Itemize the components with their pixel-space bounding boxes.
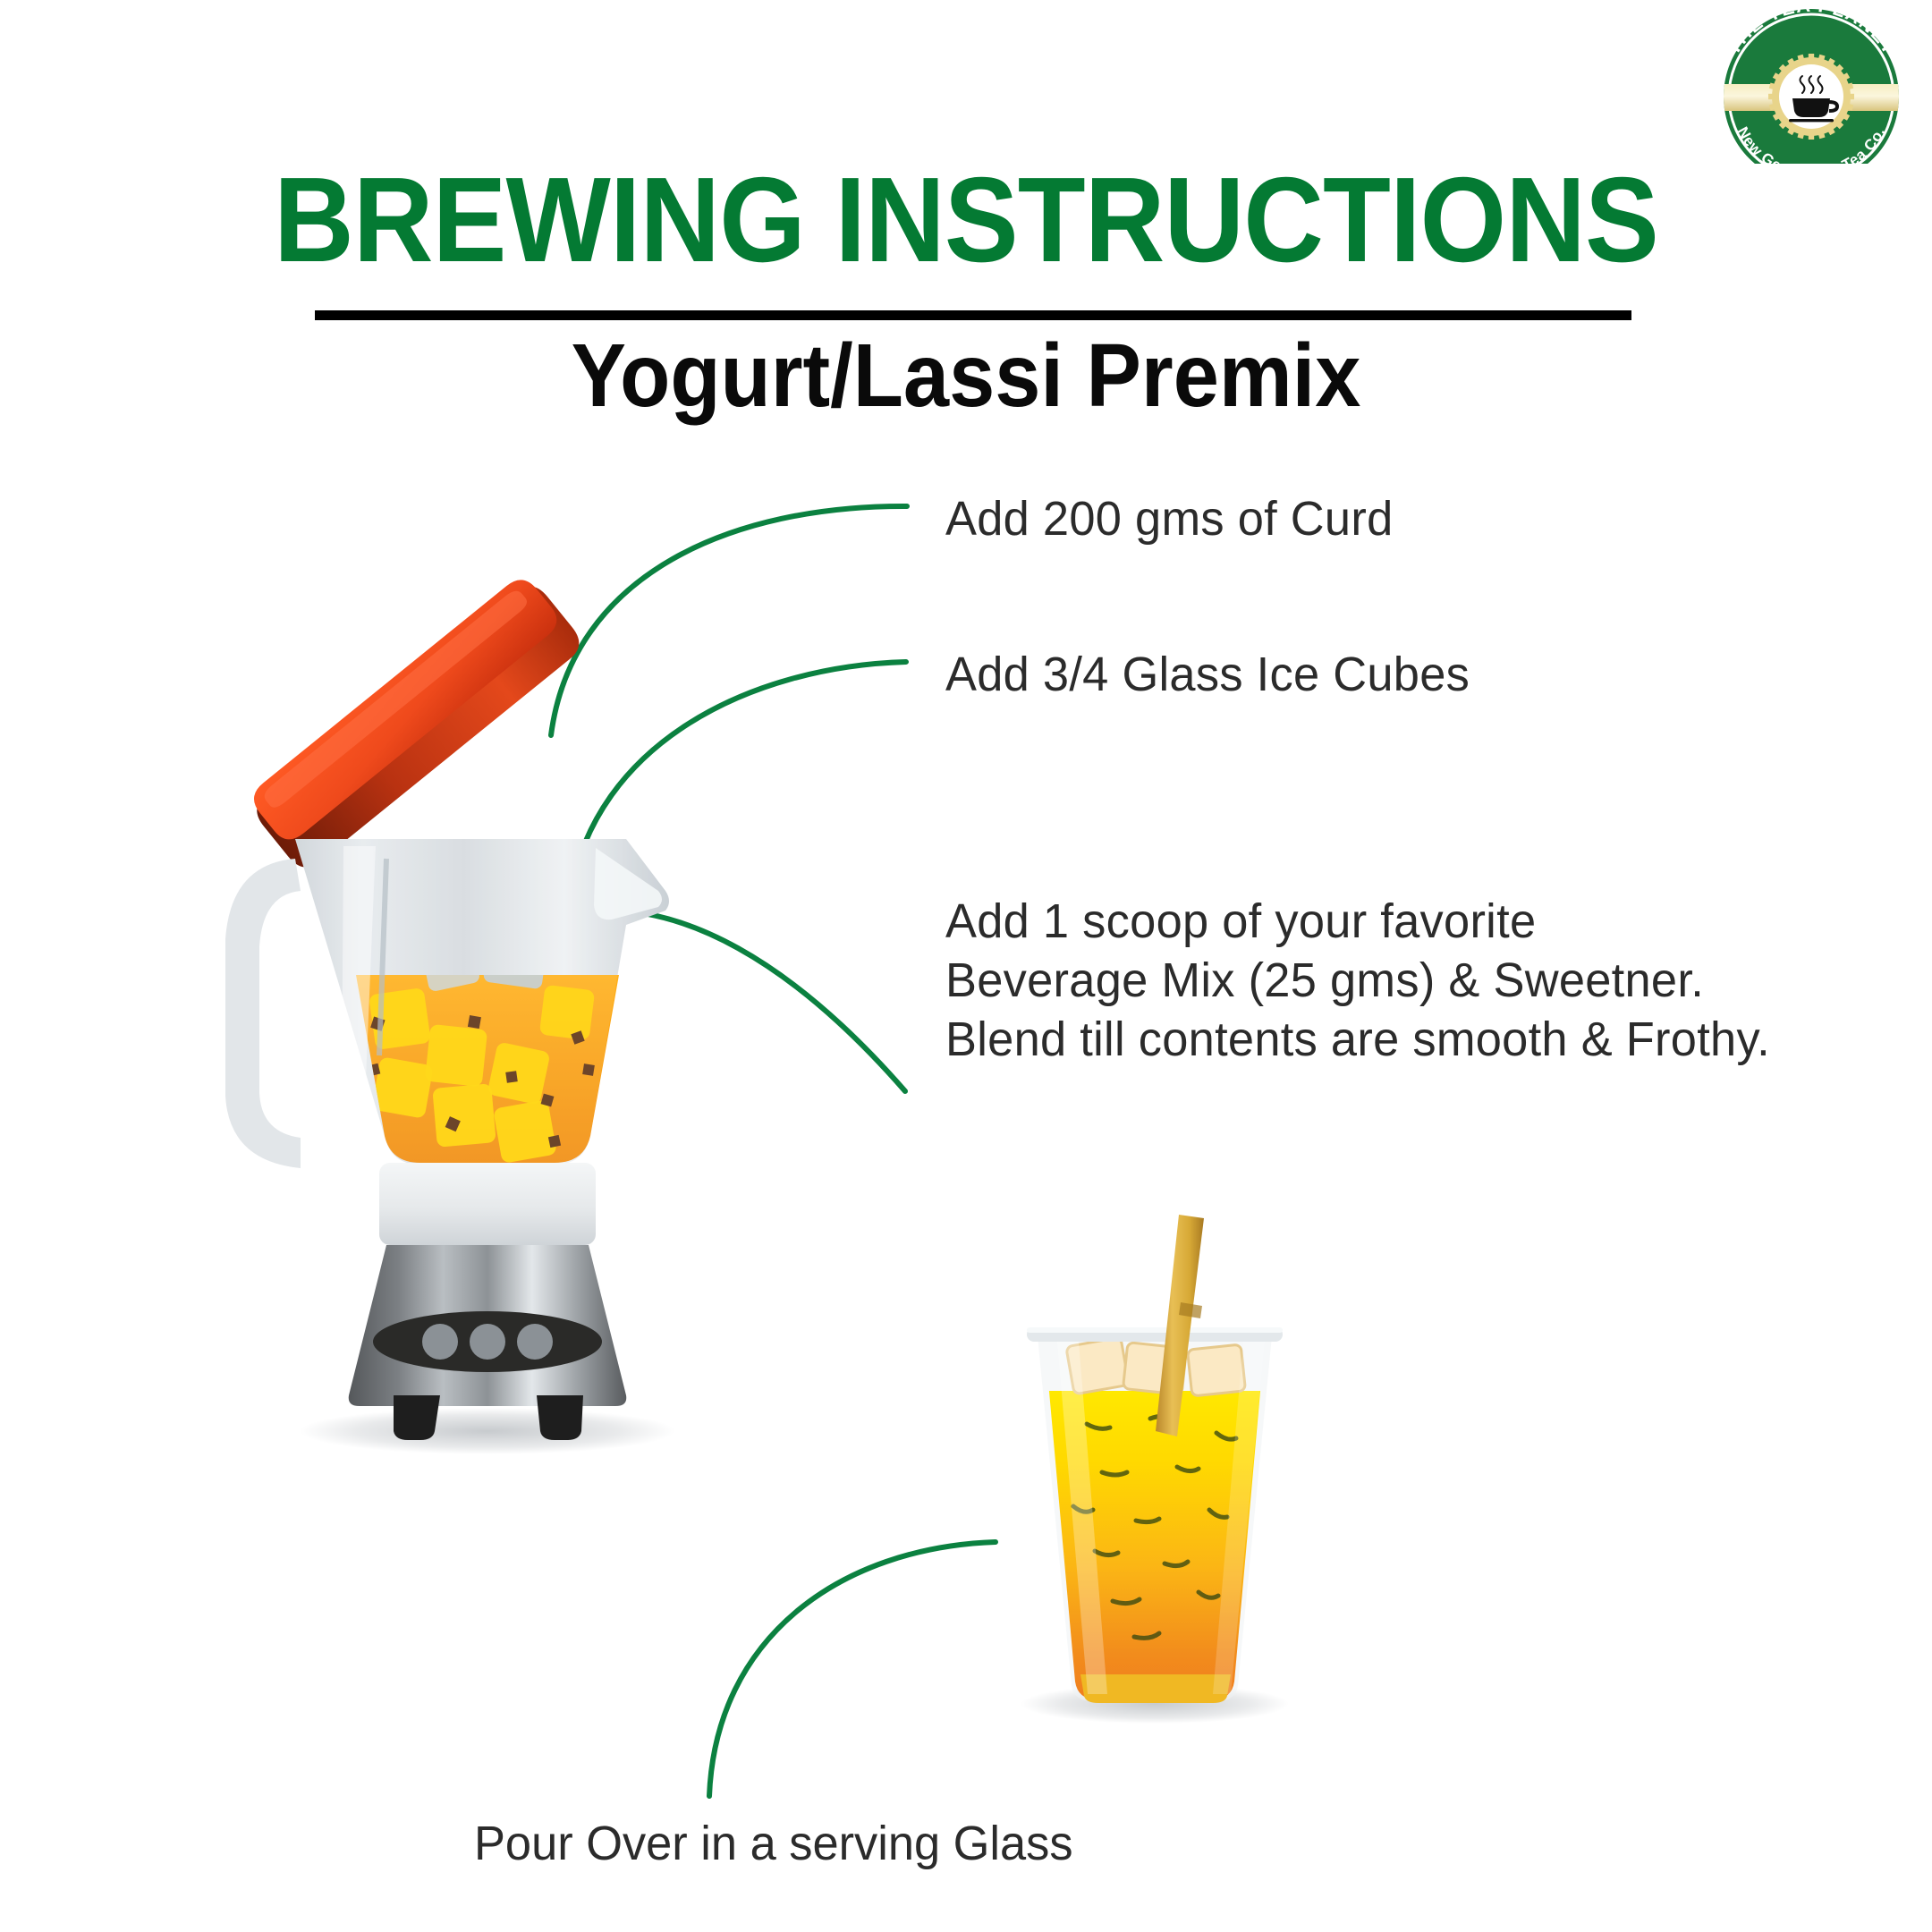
glass-rim bbox=[1027, 1327, 1283, 1342]
glass-liquid bbox=[1029, 1391, 1288, 1713]
blender-collar bbox=[379, 1163, 596, 1245]
title-underline bbox=[315, 310, 1631, 320]
floating-ice bbox=[419, 923, 550, 993]
blender-button-1 bbox=[422, 1324, 458, 1360]
connector-curve-2 bbox=[570, 662, 906, 897]
control-buttons bbox=[422, 1324, 553, 1360]
logo-starburst bbox=[1768, 54, 1854, 140]
blender-base bbox=[349, 1245, 627, 1440]
jar-body bbox=[295, 839, 669, 1165]
step-label-3: Add 1 scoop of your favorite Beverage Mi… bbox=[945, 893, 1770, 1070]
connector-lines bbox=[551, 506, 996, 1796]
jar-handle bbox=[225, 859, 301, 1168]
jar-contents bbox=[349, 923, 635, 1172]
blender-illustration bbox=[225, 571, 675, 1454]
straw bbox=[1156, 1215, 1204, 1436]
infographic-canvas: THE TEA PLANET New Generation Tea Co. BR… bbox=[0, 0, 1932, 1932]
blender-button-3 bbox=[517, 1324, 553, 1360]
tea-specks bbox=[368, 1015, 595, 1148]
connector-curve-3 bbox=[572, 911, 905, 1091]
step-label-2: Add 3/4 Glass Ice Cubes bbox=[945, 646, 1470, 705]
blender-button-2 bbox=[470, 1324, 505, 1360]
glass-shadow bbox=[1021, 1684, 1289, 1724]
glass-shell bbox=[1038, 1336, 1272, 1701]
brand-logo: THE TEA PLANET New Generation Tea Co. bbox=[1699, 7, 1923, 164]
pour-over-caption: Pour Over in a serving Glass bbox=[474, 1816, 1073, 1871]
page-title: BREWING INSTRUCTIONS bbox=[77, 159, 1854, 280]
blender-foot-left bbox=[394, 1395, 440, 1440]
step-label-1: Add 200 gms of Curd bbox=[945, 490, 1394, 549]
connector-curve-4 bbox=[709, 1542, 996, 1796]
ice-cubes bbox=[369, 985, 595, 1164]
glass-ice bbox=[1066, 1337, 1246, 1396]
blender-shadow bbox=[300, 1408, 675, 1454]
glass-base bbox=[1080, 1674, 1231, 1703]
serving-glass-illustration bbox=[1021, 1215, 1289, 1724]
blender-foot-right bbox=[537, 1395, 583, 1440]
connector-curve-1 bbox=[551, 506, 907, 735]
blender-jar bbox=[225, 839, 669, 1172]
control-panel bbox=[373, 1311, 602, 1372]
tea-leaf-specks bbox=[1073, 1416, 1236, 1638]
blender-lid bbox=[242, 571, 587, 876]
page-subtitle: Yogurt/Lassi Premix bbox=[77, 331, 1854, 420]
